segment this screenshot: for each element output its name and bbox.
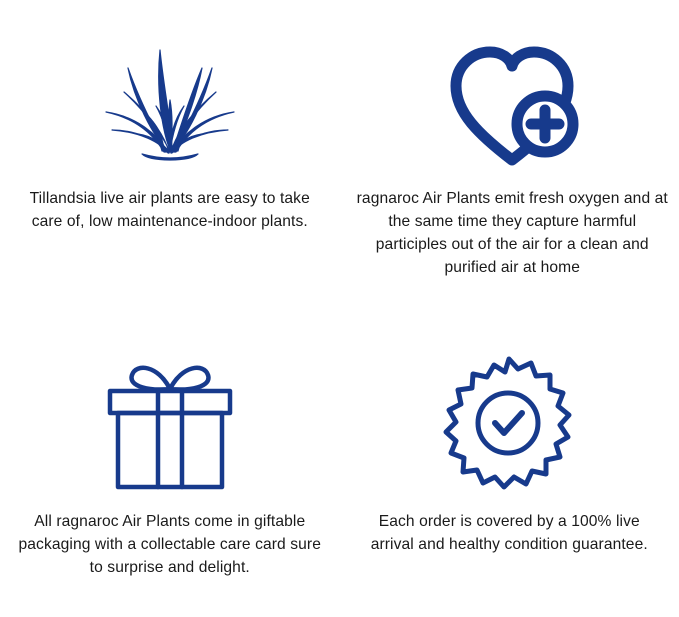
feature-caption: Each order is covered by a 100% live arr… (356, 510, 664, 556)
guarantee-badge-icon-wrap (429, 345, 589, 510)
gift-box-icon (80, 347, 260, 507)
feature-cell-air-quality: ragnaroc Air Plants emit fresh oxygen an… (340, 0, 679, 309)
feature-caption: All ragnaroc Air Plants come in giftable… (16, 510, 324, 579)
feature-grid: Tillandsia live air plants are easy to t… (0, 0, 679, 617)
feature-caption: Tillandsia live air plants are easy to t… (16, 187, 324, 233)
heart-plus-icon (432, 20, 592, 180)
feature-cell-air-plant: Tillandsia live air plants are easy to t… (0, 0, 340, 309)
gift-box-icon-wrap (80, 345, 260, 510)
heart-plus-icon-wrap (432, 12, 592, 187)
guarantee-badge-icon (429, 347, 589, 507)
air-plant-icon (90, 20, 250, 180)
feature-caption: ragnaroc Air Plants emit fresh oxygen an… (354, 187, 672, 279)
air-plant-icon-wrap (90, 12, 250, 187)
feature-cell-guarantee: Each order is covered by a 100% live arr… (340, 309, 679, 617)
feature-cell-gift-packaging: All ragnaroc Air Plants come in giftable… (0, 309, 340, 617)
